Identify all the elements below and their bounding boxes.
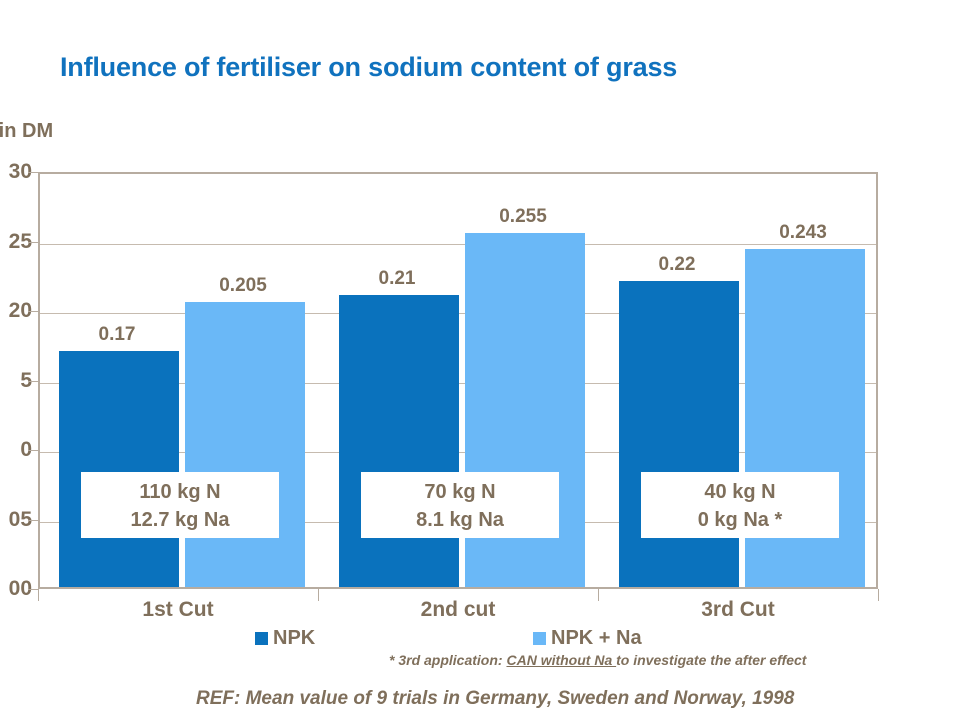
y-axis-tick-mark xyxy=(28,450,38,451)
legend-item-npk[interactable]: NPK xyxy=(255,627,315,650)
legend-label: NPK xyxy=(273,627,315,650)
legend-item-npk-na[interactable]: NPK + Na xyxy=(533,627,642,650)
bar-value-label-npk-na: 0.205 xyxy=(219,275,267,297)
bar-npk[interactable] xyxy=(59,351,179,587)
bar-value-label-npk: 0.21 xyxy=(379,268,416,290)
annotation-line-2: 12.7 kg Na xyxy=(81,506,279,534)
y-axis-tick-mark xyxy=(28,589,38,590)
annotation-line-1: 110 kg N xyxy=(81,478,279,506)
footnote-underlined: CAN without Na xyxy=(506,652,616,668)
y-axis-tick-mark xyxy=(28,311,38,312)
x-axis-tick-mark xyxy=(318,589,319,601)
x-axis-tick-mark xyxy=(598,589,599,601)
annotation-line-2: 0 kg Na * xyxy=(641,506,839,534)
annotation-line-2: 8.1 kg Na xyxy=(361,506,559,534)
x-axis-category-label: 3rd Cut xyxy=(701,598,775,622)
y-axis-tick-mark xyxy=(28,381,38,382)
footnote-prefix: * 3rd application: xyxy=(389,652,506,668)
footnote: * 3rd application: CAN without Na to inv… xyxy=(389,652,806,668)
bar-npk[interactable] xyxy=(339,295,459,587)
chart-title: Influence of fertiliser on sodium conten… xyxy=(60,52,870,83)
legend-swatch-icon xyxy=(533,632,546,645)
bar-annotation-box: 110 kg N12.7 kg Na xyxy=(81,472,279,538)
x-axis-category-label: 1st Cut xyxy=(142,598,213,622)
annotation-line-1: 70 kg N xyxy=(361,478,559,506)
bar-value-label-npk-na: 0.255 xyxy=(499,206,547,228)
x-axis-tick-mark xyxy=(878,589,879,601)
y-axis-tick-mark xyxy=(28,172,38,173)
legend-swatch-icon xyxy=(255,632,268,645)
x-axis-category-label: 2nd cut xyxy=(421,598,496,622)
reference-line: REF: Mean value of 9 trials in Germany, … xyxy=(196,688,794,710)
x-axis-tick-mark xyxy=(38,589,39,601)
y-axis-tick-mark xyxy=(28,242,38,243)
slide-canvas: Influence of fertiliser on sodium conten… xyxy=(0,0,960,720)
footnote-suffix: to investigate the after effect xyxy=(616,652,806,668)
bar-value-label-npk: 0.22 xyxy=(659,254,696,276)
gridline xyxy=(40,244,876,245)
bar-npk-na[interactable] xyxy=(185,302,305,587)
bar-annotation-box: 40 kg N0 kg Na * xyxy=(641,472,839,538)
bar-value-label-npk: 0.17 xyxy=(99,324,136,346)
annotation-line-1: 40 kg N xyxy=(641,478,839,506)
y-axis-title: a in DM xyxy=(0,120,53,143)
bar-value-label-npk-na: 0.243 xyxy=(779,222,827,244)
bar-npk[interactable] xyxy=(619,281,739,587)
y-axis-tick-mark xyxy=(28,520,38,521)
bar-annotation-box: 70 kg N8.1 kg Na xyxy=(361,472,559,538)
legend-label: NPK + Na xyxy=(551,627,642,650)
